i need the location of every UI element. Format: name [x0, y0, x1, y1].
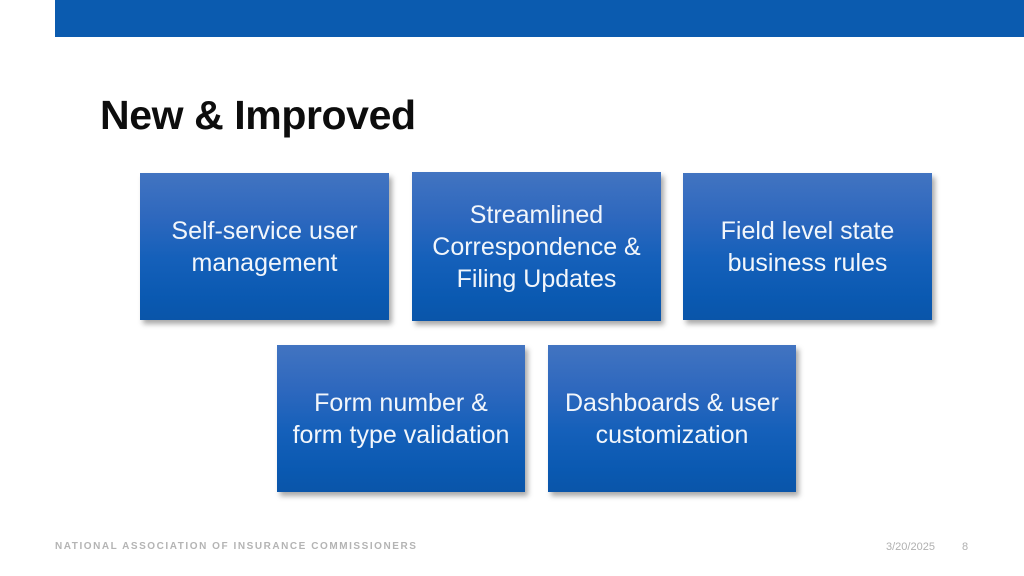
feature-box-label: Streamlined Correspondence & Filing Upda… — [424, 199, 649, 295]
header-accent-bar — [55, 0, 1024, 37]
feature-box-form-number-form-type-validation[interactable]: Form number & form type validation — [277, 345, 525, 492]
feature-box-label: Form number & form type validation — [289, 387, 513, 451]
page-title: New & Improved — [100, 88, 920, 148]
feature-box-label: Self-service user management — [152, 215, 377, 279]
slide-canvas: New & Improved Self-service user managem… — [0, 0, 1024, 576]
feature-box-self-service-user-management[interactable]: Self-service user management — [140, 173, 389, 320]
footer-organization-name: NATIONAL ASSOCIATION OF INSURANCE COMMIS… — [55, 541, 418, 552]
feature-box-streamlined-correspondence-filing-updates[interactable]: Streamlined Correspondence & Filing Upda… — [412, 172, 661, 321]
feature-box-field-level-state-business-rules[interactable]: Field level state business rules — [683, 173, 932, 320]
feature-box-dashboards-user-customization[interactable]: Dashboards & user customization — [548, 345, 796, 492]
footer-page-number: 8 — [962, 541, 968, 553]
footer-date: 3/20/2025 — [886, 541, 935, 553]
feature-box-label: Dashboards & user customization — [560, 387, 784, 451]
feature-box-label: Field level state business rules — [695, 215, 920, 279]
